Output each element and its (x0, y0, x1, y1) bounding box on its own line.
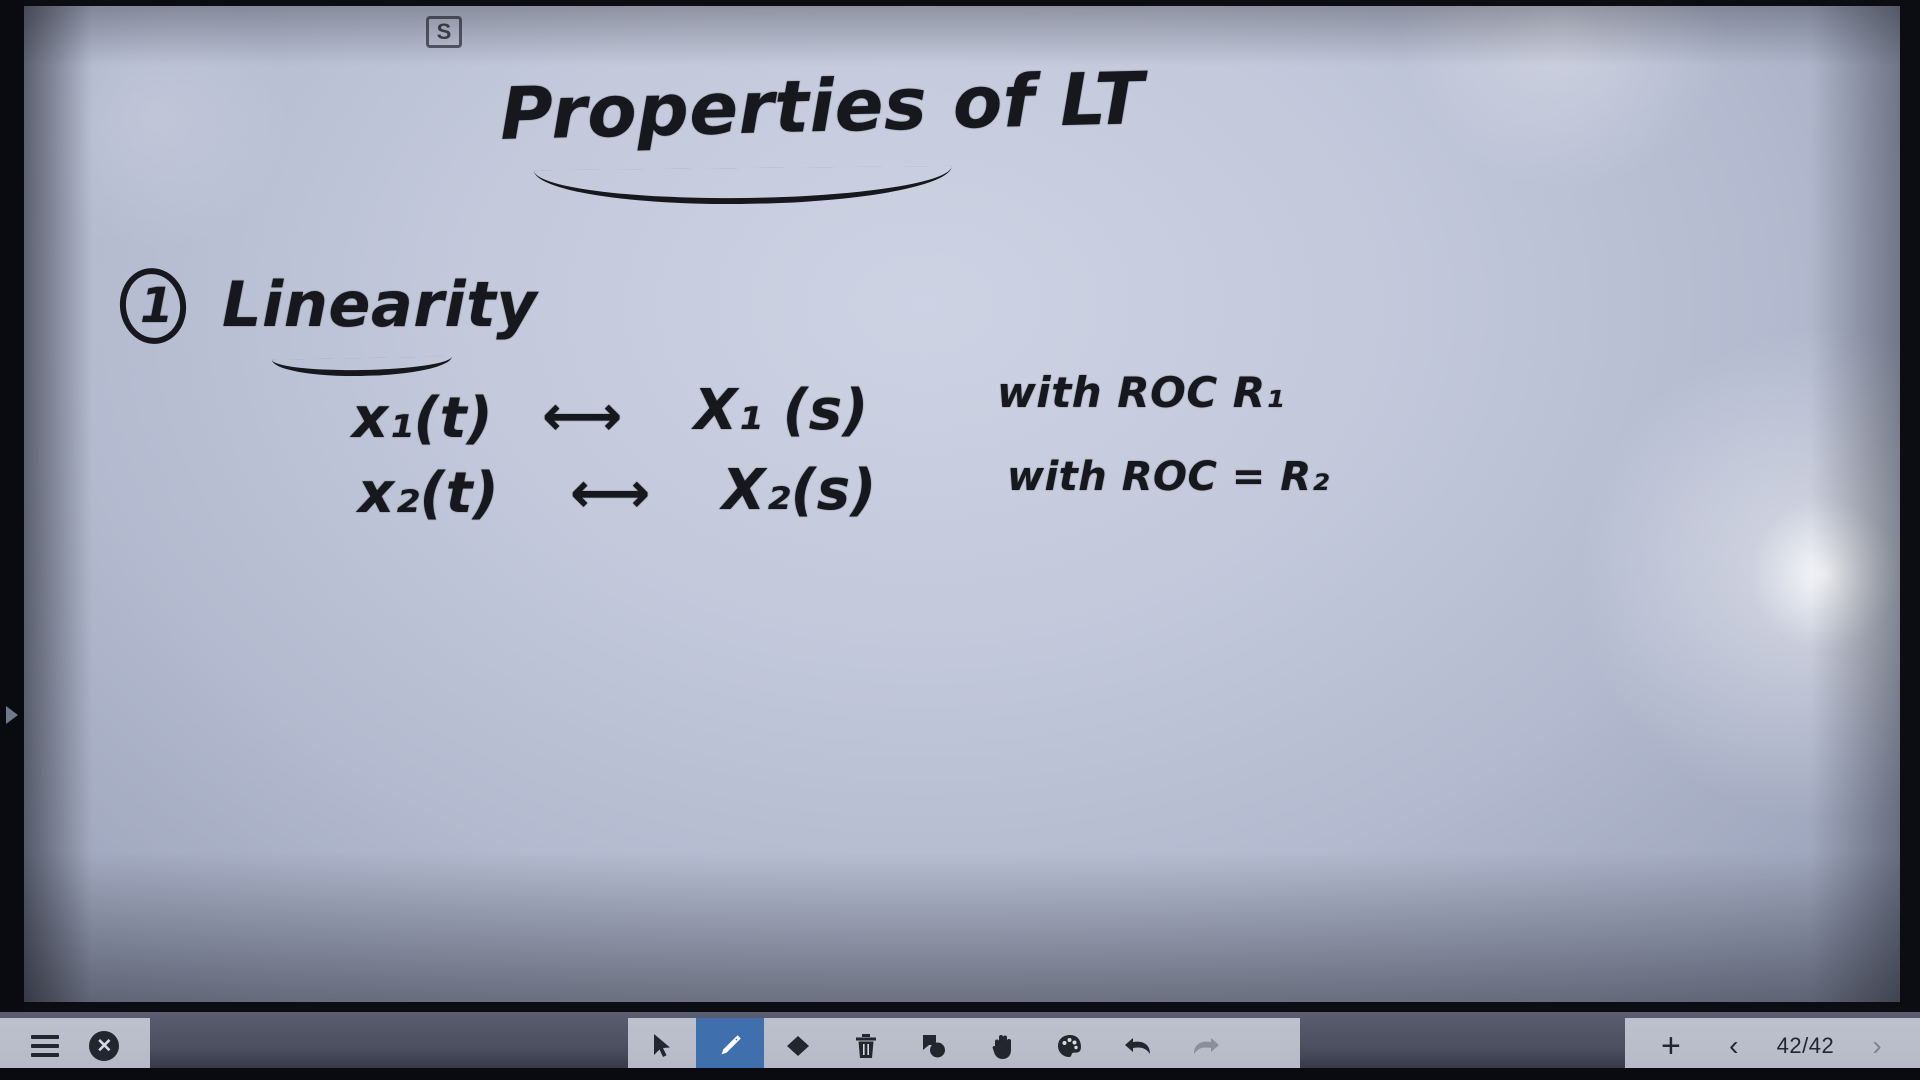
eraser-tool[interactable] (764, 1018, 832, 1074)
item-label-linearity: Linearity (222, 268, 537, 341)
add-page-button[interactable]: + (1651, 1026, 1691, 1066)
redo-button[interactable] (1172, 1018, 1240, 1074)
board-watermark-logo: S (426, 16, 462, 48)
equation-2-note: with ROC = R₂ (1007, 454, 1330, 500)
trash-icon (855, 1033, 877, 1059)
delete-tool[interactable] (832, 1018, 900, 1074)
drawing-tools-panel (628, 1018, 1300, 1074)
equation-1-lhs: x₁(t) (352, 386, 493, 451)
cursor-icon (650, 1033, 674, 1059)
hand-icon (990, 1033, 1014, 1060)
left-controls-panel: ✕ (0, 1018, 150, 1074)
shapes-icon (921, 1033, 947, 1059)
equation-2-arrow: ⟷ (570, 461, 650, 526)
select-tool[interactable] (628, 1018, 696, 1074)
frame-bottom-bezel (0, 1068, 1920, 1080)
pan-tool[interactable] (968, 1018, 1036, 1074)
item-number: 1 (140, 278, 174, 334)
whiteboard-app: Properties of LT 1 Linearity x₁(t) ⟷ X₁ … (0, 0, 1920, 1080)
title-underline (534, 166, 952, 206)
equation-1-rhs: X₁ (s) (694, 378, 869, 443)
shapes-tool[interactable] (900, 1018, 968, 1074)
whiteboard-surface[interactable]: Properties of LT 1 Linearity x₁(t) ⟷ X₁ … (22, 6, 1900, 1002)
pen-tool[interactable] (696, 1018, 764, 1074)
equation-1-arrow: ⟷ (542, 384, 622, 449)
undo-button[interactable] (1104, 1018, 1172, 1074)
redo-icon (1192, 1035, 1220, 1057)
panel-expand-triangle-icon[interactable] (6, 706, 18, 724)
eraser-icon (785, 1034, 811, 1058)
frame-left-bezel (0, 0, 24, 1012)
close-icon[interactable]: ✕ (89, 1031, 119, 1061)
palette-icon (1057, 1034, 1083, 1058)
color-tool[interactable] (1036, 1018, 1104, 1074)
equation-1-note: with ROC R₁ (997, 368, 1285, 417)
hamburger-menu-icon[interactable] (31, 1035, 59, 1057)
board-frame: Properties of LT 1 Linearity x₁(t) ⟷ X₁ … (0, 0, 1920, 1012)
equation-2-rhs: X₂(s) (722, 458, 877, 523)
camera-vignette (22, 6, 1900, 1002)
page-title: Properties of LT (499, 56, 1145, 156)
next-page-button[interactable]: › (1860, 1026, 1894, 1066)
page-indicator: 42/42 (1777, 1033, 1835, 1059)
undo-icon (1124, 1035, 1152, 1057)
prev-page-button[interactable]: ‹ (1717, 1026, 1751, 1066)
pencil-icon (717, 1033, 743, 1059)
equation-2-lhs: x₂(t) (358, 461, 499, 526)
pagination-panel: + ‹ 42/42 › (1625, 1018, 1920, 1074)
item-label-underline (272, 356, 452, 377)
